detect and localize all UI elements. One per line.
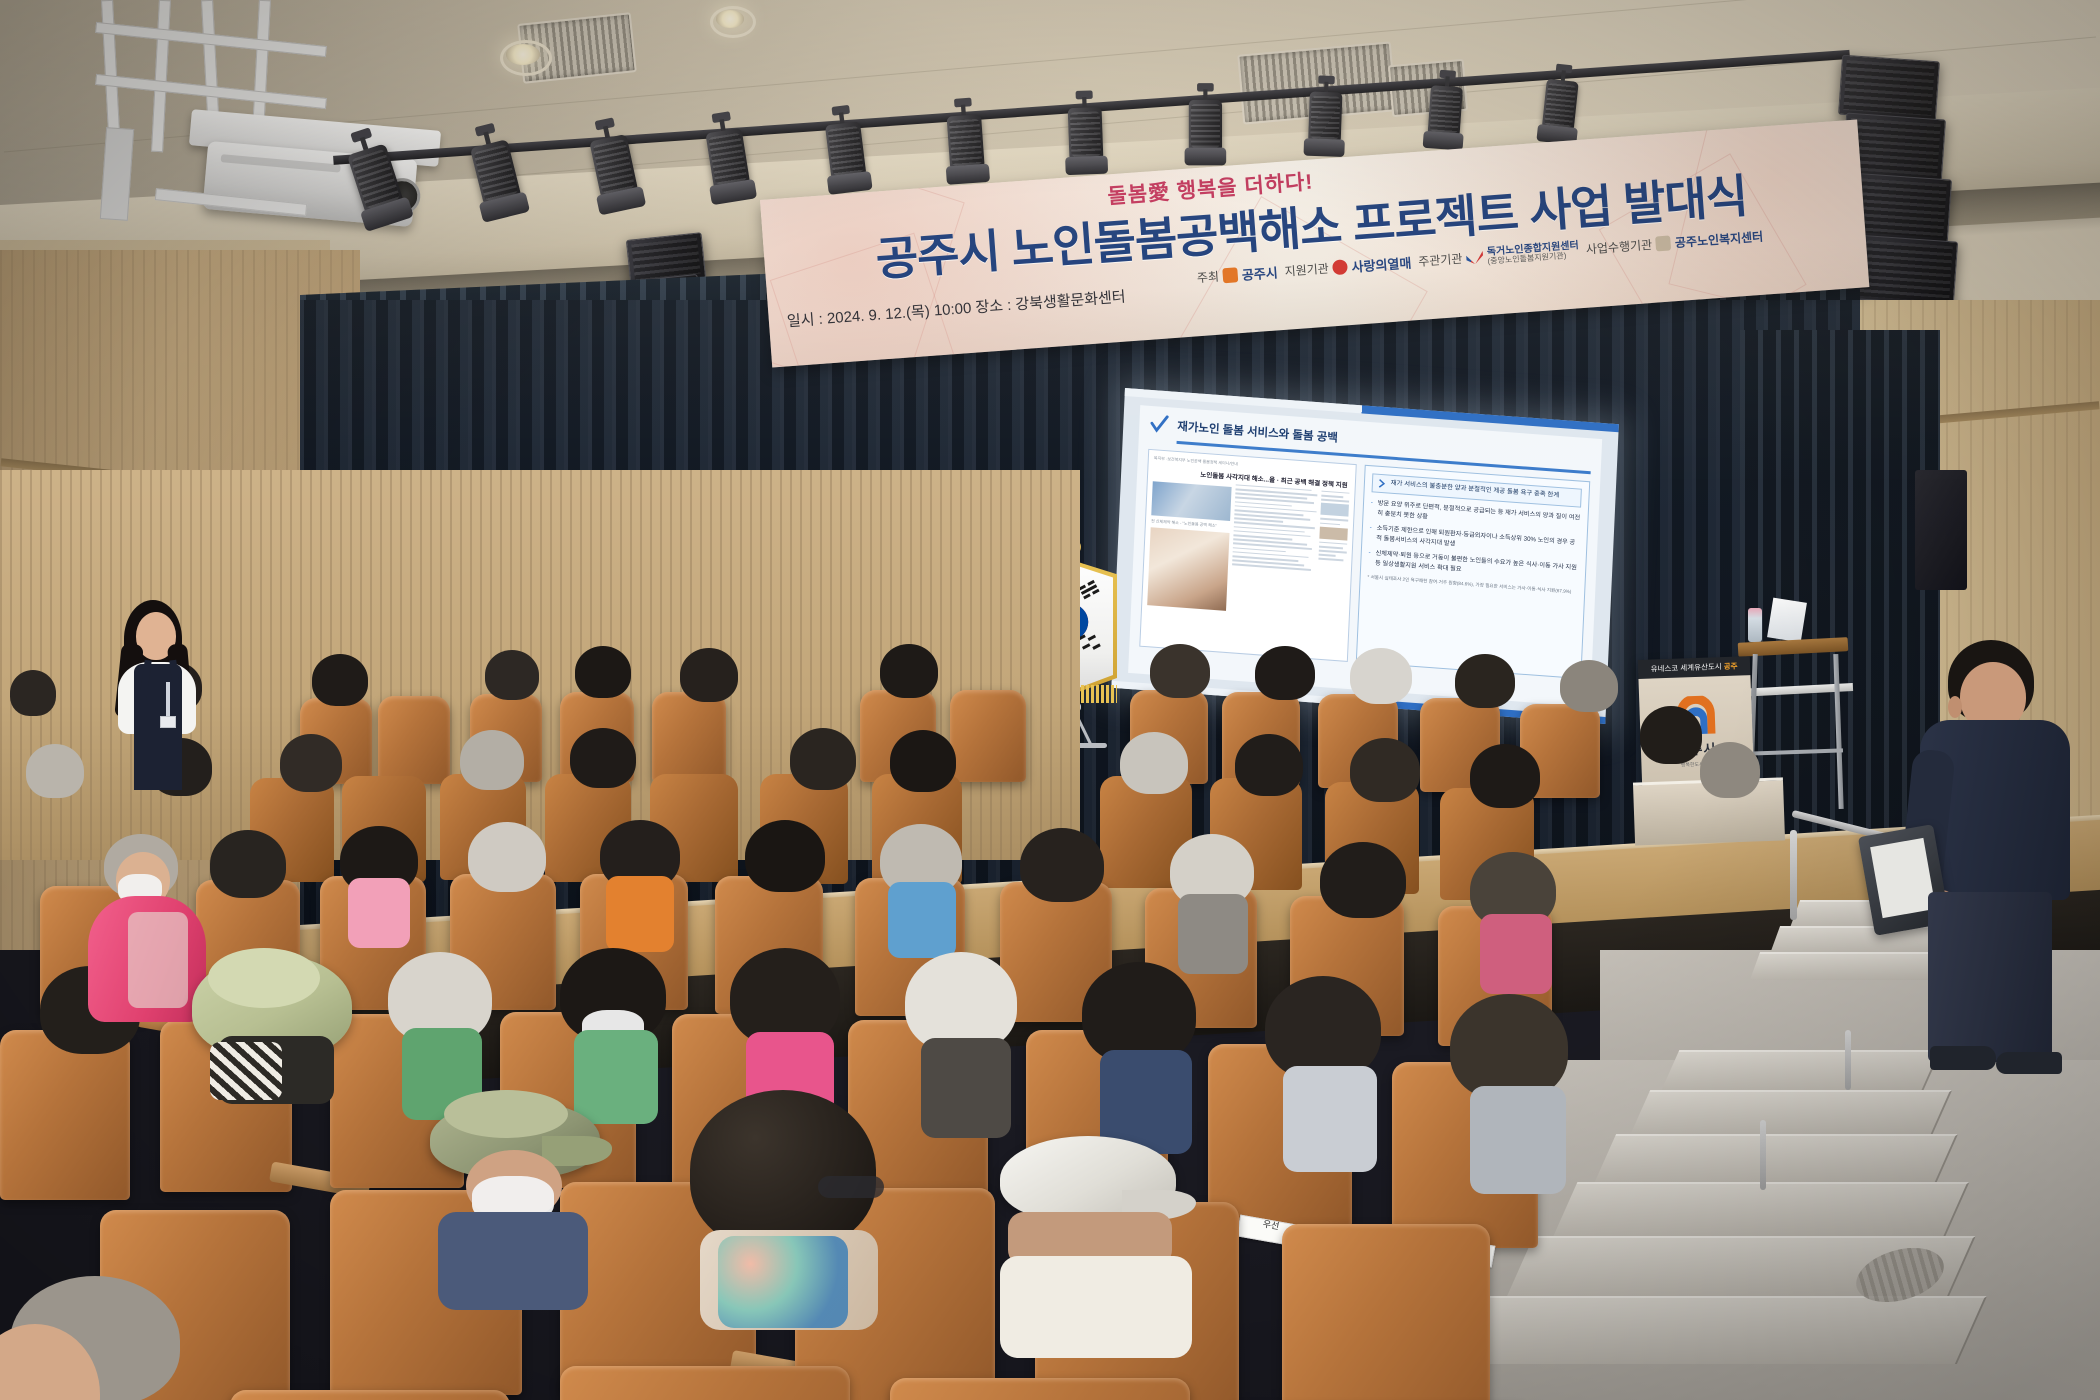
slide-callout-text: 재가 서비스의 불충분한 양과 분절적인 제공 돌봄 욕구 충족 한계 [1391, 480, 1560, 501]
downlight [716, 10, 744, 28]
floral-scarf [718, 1236, 848, 1328]
line-array-speaker [1838, 55, 1940, 122]
attendee-curly-hair [690, 1090, 910, 1330]
gongju-city-logo-icon [1222, 268, 1238, 284]
inner-shirt [128, 912, 188, 1008]
clothing [1178, 894, 1248, 974]
stage-light [939, 103, 992, 190]
shoe [1930, 1046, 1996, 1070]
cap-brim [542, 1136, 612, 1166]
unesco-heritage-text: 유네스코 세계유산도시 [1650, 662, 1721, 673]
aisle-handrail [1760, 1120, 1766, 1190]
stage-light [1301, 81, 1349, 162]
clothing [1283, 1066, 1377, 1172]
cap-crown [444, 1090, 568, 1138]
stage-light [1534, 68, 1586, 150]
stage-light [1420, 75, 1469, 156]
attendee-striped-shirt [0, 1276, 330, 1400]
slide-title: 재가노인 돌봄 서비스와 돌봄 공백 [1177, 418, 1338, 446]
staff-member-left [100, 600, 220, 790]
clothing [348, 878, 410, 948]
stage-light [1061, 96, 1110, 180]
attendee-sun-hat [192, 940, 372, 1140]
lectern-papers [1767, 598, 1807, 643]
slide-news-clipping: 복지부 ·보건복지부 노인공백 돌봄정책 세미나/안내 노인돌봄 사각지대 해소… [1139, 449, 1356, 662]
article-sidebar [1316, 490, 1349, 622]
clothing [888, 882, 956, 958]
clothing [1470, 1086, 1566, 1194]
stage-light [1183, 89, 1229, 170]
hat-crown [208, 948, 320, 1008]
water-bottle [1748, 608, 1762, 642]
step-handrail [1790, 830, 1797, 920]
center-logo-icon [1655, 236, 1671, 252]
projector-vent [221, 154, 341, 172]
clothing [606, 876, 674, 952]
stage-light [817, 110, 875, 201]
wall-speaker [1915, 470, 1967, 590]
stage-light [460, 126, 534, 230]
lectern-brace [1748, 748, 1843, 755]
article-photo-2 [1147, 527, 1229, 611]
gongju-mark: 공주 [1724, 662, 1738, 671]
article-photo [1151, 481, 1231, 521]
fruit-of-love-logo-icon [1332, 260, 1348, 276]
patterned-scarf [210, 1042, 282, 1100]
eyeglasses [818, 1176, 884, 1198]
clothing [1480, 914, 1552, 994]
lectern-leg [1833, 654, 1843, 809]
chevron-right-icon [1378, 479, 1387, 489]
clothing [438, 1212, 588, 1310]
slide-key-points: 재가 서비스의 불충분한 양과 분절적인 제공 돌봄 욕구 충족 한계 방문 요… [1356, 465, 1591, 679]
check-icon [1149, 414, 1170, 435]
clothing [1000, 1256, 1192, 1358]
check-swoosh-logo-icon [1466, 251, 1484, 265]
downlight [506, 44, 540, 65]
scissor-lift-arm [151, 0, 171, 152]
clothing [921, 1038, 1011, 1138]
id-badge [160, 716, 176, 728]
article-columns: 전 신체제약 해소 - "노인돌봄 공백 해소" [1147, 478, 1349, 622]
audience-seating: 우선 [0, 690, 1720, 1400]
rig-side-panel [100, 127, 134, 221]
auditorium-photo: 돌봄愛 행복을 더하다! 공주시 노인돌봄공백해소 프로젝트 사업 발대식 일시… [0, 0, 2100, 1400]
staff-member-right [1900, 640, 2090, 1080]
shoe [1996, 1052, 2062, 1074]
aisle-handrail [1845, 1030, 1851, 1090]
lanyard [166, 682, 170, 718]
article-text-lines [1230, 484, 1318, 620]
attendee-cap [430, 1080, 630, 1310]
stage-light [336, 129, 418, 239]
attendee-white-cap [1000, 1108, 1220, 1358]
trousers [1928, 892, 2052, 1062]
ear [1948, 696, 1962, 718]
